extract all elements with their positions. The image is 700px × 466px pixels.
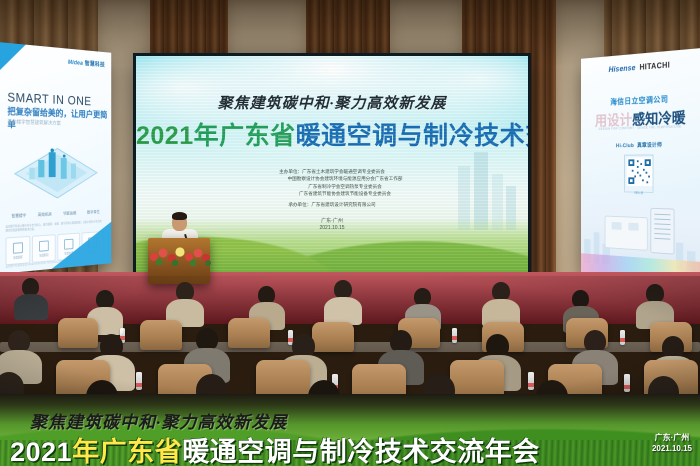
screen-title-mid: 年广东省 (194, 122, 296, 150)
midea-feature-1: 高效机房 (38, 212, 52, 218)
screen-organizers: 主办单位：广东省土木建筑学会暖通空调专业委员会 中国勘察设计协会建筑环境与能源应… (136, 168, 528, 208)
midea-feature-3: 数字孪生 (87, 209, 100, 215)
midea-logo: Midea 智慧科技 (68, 57, 105, 68)
water-bottle (620, 330, 625, 345)
organizer-4: 广东省建筑节能协会建筑节能设备专业委员会 (299, 191, 391, 196)
building-icon (13, 242, 23, 254)
screen-title: 2021年广东省暖通空调与制冷技术交流年会 (136, 116, 528, 152)
organizer-3: 广东省制冷学会空调热泵专业委员会 (308, 184, 382, 189)
seat (140, 320, 182, 350)
screen-subtitle: 聚焦建筑碳中和·聚力高效新发展 (136, 92, 528, 113)
hitachi-logo: HITACHI (639, 61, 670, 72)
conference-photo: 聚焦建筑碳中和·聚力高效新发展 2021年广东省暖通空调与制冷技术交流年会 主办… (0, 0, 700, 466)
bottom-title-year: 2021 (10, 437, 72, 466)
banner-hisense-hitachi: Hisense HITACHI 海信日立空调公司 用设计感知冷暖 DESIGN … (581, 48, 700, 284)
bottom-location: 广东·广州 (652, 432, 692, 443)
seat (228, 318, 270, 348)
screen-title-year: 2021 (136, 122, 194, 150)
bottom-title-rest: 暖通空调与制冷技术交流年会 (182, 437, 540, 466)
bottom-date: 2021.10.15 (652, 443, 692, 454)
hi-club-label: Hi-Club (616, 143, 634, 149)
midea-card-label-0: 智慧园区 (13, 255, 22, 260)
speaker-hair (172, 212, 187, 220)
hisense-club-line: Hi-Club 真章设计师 (581, 140, 700, 150)
flower-arrangement (144, 243, 216, 269)
organizer-label: 主办单位： (279, 169, 302, 174)
water-bottle (136, 372, 142, 390)
screen-location: 广东·广州 (136, 218, 528, 225)
seat (312, 322, 354, 352)
hisense-hitachi-logos: Hisense HITACHI (581, 58, 700, 76)
seat (58, 318, 98, 348)
water-bottle (624, 374, 630, 392)
midea-brand-cn: 智慧科技 (85, 61, 105, 68)
organizer-1: 广东省土木建筑学会暖通空调专业委员会 (302, 169, 385, 174)
bottom-banner-title: 2021年广东省暖通空调与制冷技术交流年会 (10, 430, 540, 466)
bottom-banner: 聚焦建筑碳中和·聚力高效新发展 2021年广东省暖通空调与制冷技术交流年会 广东… (0, 394, 700, 466)
bottom-title-mid: 年广东省 (72, 437, 182, 466)
water-bottle (528, 372, 534, 390)
hi-club-cn: 真章设计师 (637, 143, 662, 149)
midea-subline: 美的楼宇智慧建筑解决方案 (7, 118, 60, 126)
isometric-city-illustration (11, 140, 100, 203)
undertaker-1: 广东省建筑设计研究院有限公司 (311, 202, 375, 207)
midea-feature-2: 节能运维 (63, 210, 76, 216)
midea-card-0: 智慧园区 (6, 236, 31, 265)
bottom-banner-meta: 广东·广州 2021.10.15 (652, 432, 692, 454)
midea-wordmark: Midea (68, 60, 83, 67)
hisense-logo: Hisense (609, 63, 636, 74)
midea-feature-0: 智慧楼宇 (12, 213, 27, 220)
banner-corner-decor (0, 42, 26, 74)
banner-midea: Midea 智慧科技 SMART IN ONE 把复杂留给美的，让用户更简单 美… (0, 42, 111, 274)
water-bottle (452, 328, 457, 343)
undertaker-label: 承办单位： (288, 202, 311, 207)
screen-title-rest: 暖通空调与制冷技术交流年会 (296, 122, 528, 150)
organizer-2: 中国勘察设计协会建筑环境与能源应用分会广东省工作部 (288, 176, 403, 181)
